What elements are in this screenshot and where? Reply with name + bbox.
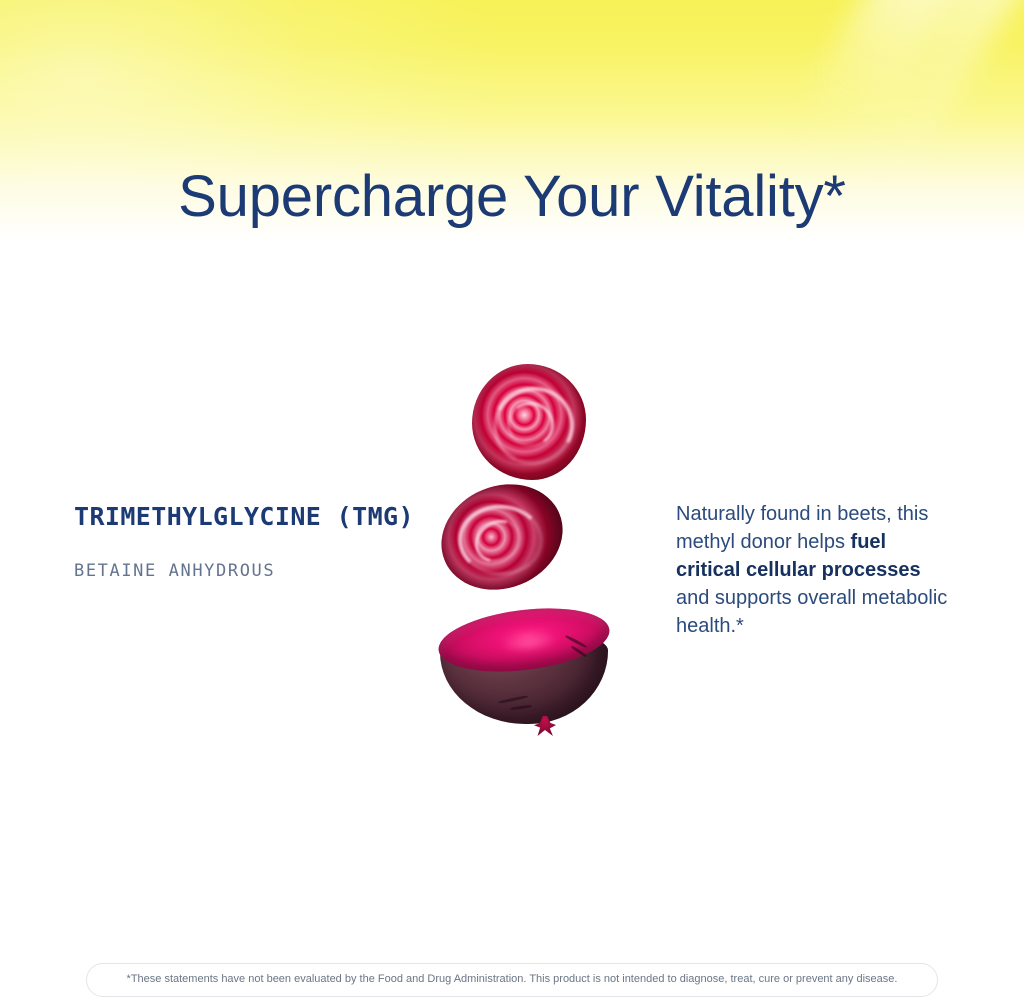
- beet-half-icon: [436, 606, 612, 734]
- beet-illustration-group: [420, 350, 640, 760]
- disclaimer-text: *These statements have not been evaluate…: [127, 973, 898, 986]
- beet-slice-top-icon: [472, 364, 586, 480]
- disclaimer-container: *These statements have not been evaluate…: [86, 963, 938, 997]
- ingredient-description: Naturally found in beets, this methyl do…: [676, 500, 948, 640]
- description-lead-text: Naturally found in beets, this methyl do…: [676, 503, 928, 553]
- ingredient-name-block: TRIMETHYLGLYCINE (TMG) BETAINE ANHYDROUS: [74, 500, 414, 584]
- ingredient-primary-name: TRIMETHYLGLYCINE (TMG): [74, 500, 414, 534]
- beet-slice-middle-icon: [425, 466, 578, 607]
- ingredient-alternate-name: BETAINE ANHYDROUS: [74, 560, 414, 584]
- page-title: Supercharge Your Vitality*: [0, 167, 1024, 228]
- beet-face-sheen: [499, 630, 559, 656]
- description-tail-text: and supports overall metabolic health.*: [676, 587, 947, 637]
- product-ingredient-panel: Supercharge Your Vitality* TRIMETHYLGLYC…: [0, 0, 1024, 1000]
